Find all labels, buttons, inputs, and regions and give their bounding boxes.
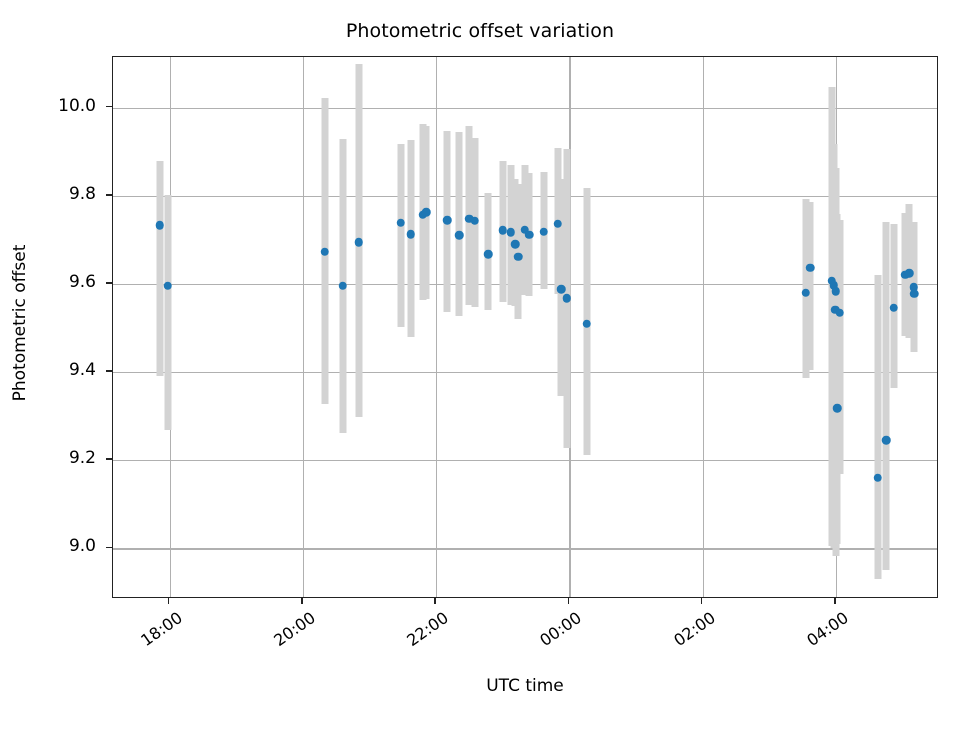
- y-tick-mark: [106, 370, 112, 372]
- data-point[interactable]: [882, 436, 891, 445]
- x-tick-mark: [834, 598, 836, 604]
- data-point[interactable]: [525, 230, 534, 239]
- data-point[interactable]: [562, 294, 571, 303]
- error-bar: [834, 214, 841, 544]
- x-tick-mark: [434, 598, 436, 604]
- gridline-horizontal: [113, 460, 937, 461]
- y-tick-label: 9.4: [0, 360, 96, 380]
- gridline-vertical: [436, 57, 437, 597]
- y-tick-mark: [106, 194, 112, 196]
- y-axis-label: Photometric offset: [10, 173, 30, 473]
- error-bar: [397, 144, 404, 327]
- y-tick-mark: [106, 282, 112, 284]
- data-point[interactable]: [514, 252, 523, 261]
- data-point[interactable]: [155, 221, 164, 230]
- gridline-vertical: [303, 57, 304, 597]
- data-point[interactable]: [506, 228, 515, 237]
- chart-title: Photometric offset variation: [0, 20, 960, 42]
- data-point[interactable]: [163, 281, 172, 290]
- y-tick-label: 9.2: [0, 448, 96, 468]
- data-point[interactable]: [557, 285, 566, 294]
- x-tick-mark: [168, 598, 170, 604]
- y-tick-label: 9.8: [0, 184, 96, 204]
- data-point[interactable]: [833, 404, 842, 413]
- error-bar: [883, 222, 890, 570]
- gridline-vertical: [703, 57, 704, 597]
- data-point[interactable]: [910, 289, 919, 298]
- data-point[interactable]: [802, 288, 811, 297]
- data-point[interactable]: [339, 281, 348, 290]
- y-tick-label: 10.0: [0, 96, 96, 116]
- gridline-horizontal: [113, 372, 937, 373]
- gridline-horizontal: [113, 548, 937, 549]
- y-tick-label: 9.0: [0, 536, 96, 556]
- data-point[interactable]: [355, 238, 364, 247]
- y-tick-mark: [106, 458, 112, 460]
- y-tick-label: 9.6: [0, 272, 96, 292]
- data-point[interactable]: [455, 231, 464, 240]
- data-point[interactable]: [832, 287, 841, 296]
- data-point[interactable]: [470, 217, 479, 226]
- data-point[interactable]: [835, 308, 844, 317]
- chart-figure: Photometric offset variation Photometric…: [0, 0, 960, 720]
- data-point[interactable]: [905, 269, 914, 278]
- data-point[interactable]: [321, 248, 330, 257]
- y-tick-mark: [106, 106, 112, 108]
- gridline-horizontal: [113, 108, 937, 109]
- x-tick-mark: [701, 598, 703, 604]
- data-point[interactable]: [554, 219, 563, 228]
- data-point[interactable]: [582, 319, 591, 328]
- error-bar: [807, 202, 814, 371]
- data-point[interactable]: [397, 218, 406, 227]
- data-point[interactable]: [443, 216, 452, 225]
- data-point[interactable]: [889, 303, 898, 312]
- error-bar: [156, 161, 163, 375]
- error-bar: [874, 275, 881, 579]
- error-bar: [164, 195, 171, 430]
- data-point[interactable]: [484, 250, 493, 259]
- x-tick-mark: [568, 598, 570, 604]
- error-bar: [456, 132, 463, 315]
- x-tick-mark: [301, 598, 303, 604]
- plot-area: [112, 56, 938, 598]
- y-tick-mark: [106, 547, 112, 549]
- data-point[interactable]: [511, 240, 520, 249]
- data-point[interactable]: [422, 208, 431, 217]
- data-point[interactable]: [873, 474, 882, 483]
- data-point[interactable]: [806, 263, 815, 272]
- data-point[interactable]: [540, 228, 549, 237]
- data-point[interactable]: [407, 230, 416, 239]
